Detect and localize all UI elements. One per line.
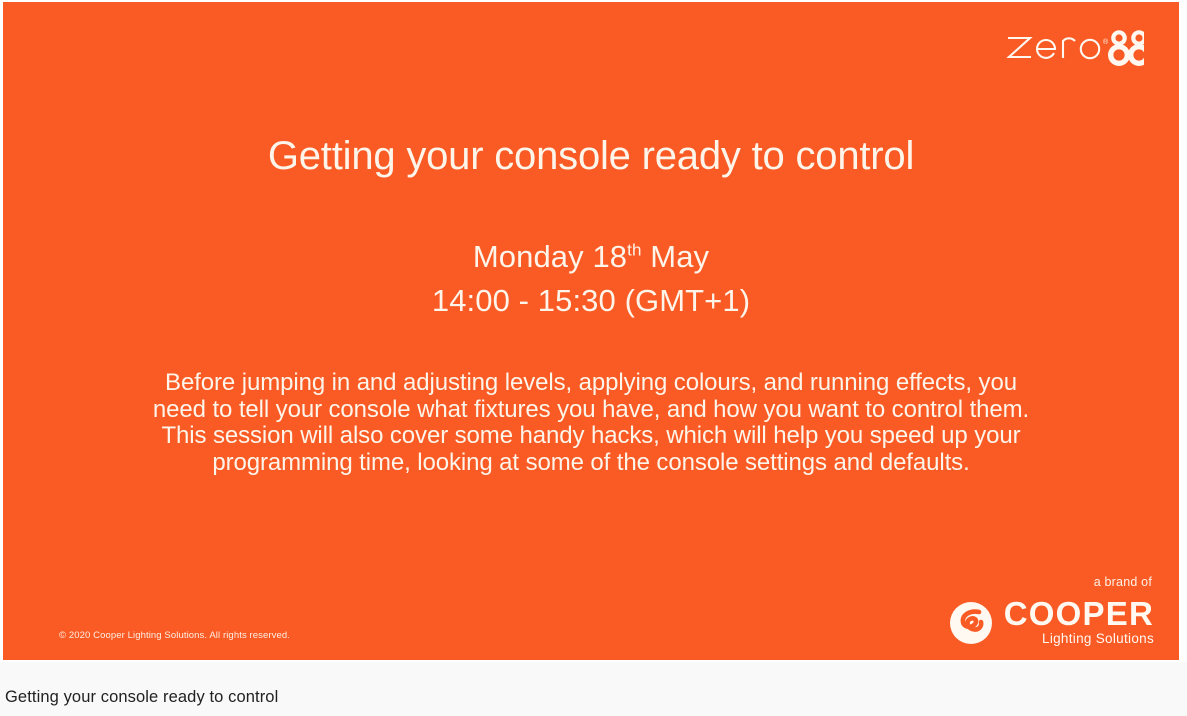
session-datetime: Monday 18th May 14:00 - 15:30 (GMT+1) [3,235,1179,323]
session-description: Before jumping in and adjusting levels, … [63,370,1119,477]
session-day-number: 18 [592,239,627,274]
svg-text:®: ® [1103,38,1109,46]
zero88-logo: ® [1004,24,1144,72]
zero88-logo-icon: ® [1004,24,1144,72]
session-date: Monday 18th May [3,235,1179,279]
cooper-tagline: Lighting Solutions [1042,631,1154,647]
slide-container: ® Getting your console ready to [0,0,1187,662]
presentation-slide: ® Getting your console ready to [3,2,1179,660]
cooper-wordmark: COOPER [1004,598,1154,630]
cooper-lighting-solutions-logo: COOPER Lighting Solutions [948,598,1154,647]
copyright-notice: © 2020 Cooper Lighting Solutions. All ri… [59,630,290,641]
session-time: 14:00 - 15:30 (GMT+1) [3,279,1179,323]
caption-bar: Getting your console ready to control [0,662,1187,716]
caption-title: Getting your console ready to control [5,688,278,707]
description-line: need to tell your console what fixtures … [63,397,1119,424]
session-month: May [650,239,709,274]
description-line: Before jumping in and adjusting levels, … [63,370,1119,397]
session-day-name: Monday [473,239,584,274]
slide-title: Getting your console ready to control [3,133,1179,179]
cooper-circle-icon [948,600,994,646]
description-line: programming time, looking at some of the… [63,450,1119,477]
brand-of-label: a brand of [1094,575,1152,589]
description-line: This session will also cover some handy … [63,423,1119,450]
cooper-wordmark-group: COOPER Lighting Solutions [1004,598,1154,647]
session-date-ordinal: th [627,241,641,260]
